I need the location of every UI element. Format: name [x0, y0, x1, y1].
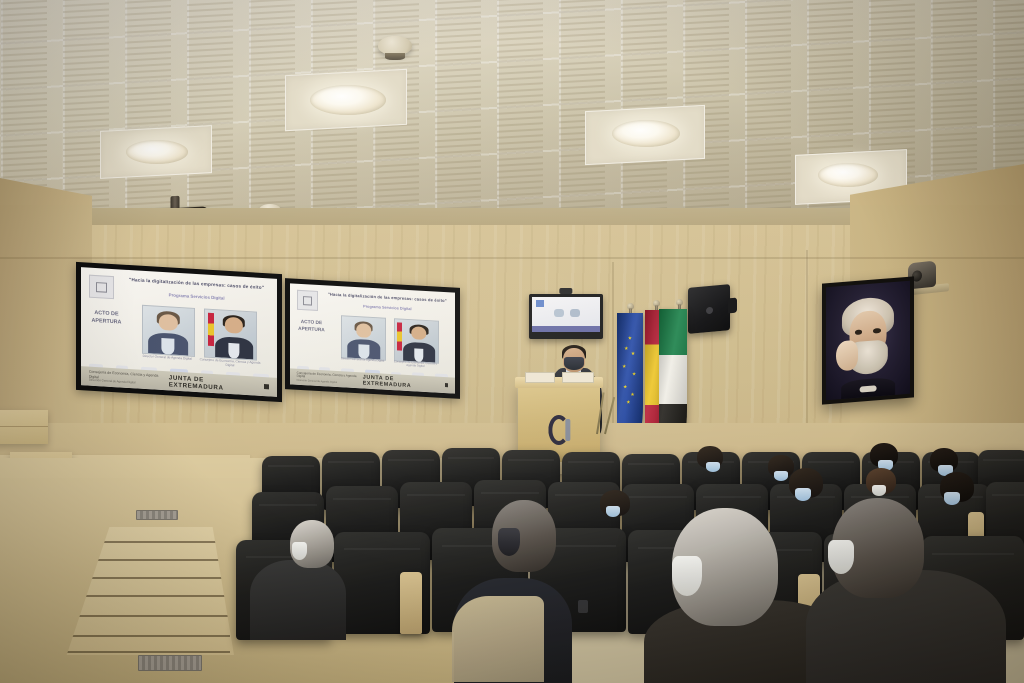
european-union-flag	[617, 313, 643, 441]
ramp-slat	[60, 615, 231, 617]
floor-air-grate	[138, 655, 202, 671]
slide-title: "Hacia la digitalización de las empresas…	[124, 277, 269, 291]
slide-headshot	[394, 318, 439, 363]
headshot-face	[159, 314, 177, 331]
attendee-face-mask	[706, 462, 720, 472]
monitor-slide-headshot	[554, 309, 564, 317]
portrait-hand	[836, 340, 858, 371]
monitor-slide-footer	[532, 326, 600, 332]
slide-footer-brand-text: JUNTA DE EXTREMADURA	[169, 374, 260, 393]
slide-footer-org: Consejería de Economía, Ciencia y Agenda…	[297, 371, 363, 386]
attendee-face-mask	[795, 488, 811, 501]
wooden-cabinet	[0, 410, 48, 444]
slide-speaker-caption: Director General de Agenda Digital	[336, 357, 389, 364]
portrait-bowtie	[860, 385, 877, 393]
attendee-face-mask	[606, 506, 620, 517]
slide-headshot	[204, 309, 257, 361]
cabinet-seam	[0, 426, 48, 427]
attendee-scarf	[452, 596, 544, 682]
recessed-downlight	[126, 140, 188, 164]
floor-air-grate	[136, 510, 178, 520]
attendee-face-mask	[774, 471, 788, 481]
auditorium-scene: "Hacia la digitalización de las empresas…	[0, 0, 1024, 683]
slide-right: "Hacia la digitalización de las empresas…	[290, 283, 455, 393]
headshot-face	[225, 317, 243, 334]
logo-bar	[565, 419, 571, 441]
slide-left: "Hacia la digitalización de las empresas…	[81, 267, 277, 397]
lectern-nameplate	[525, 372, 555, 383]
slide-logo-icon	[89, 275, 115, 300]
slide-section-label: ACTO DE APERTURA	[87, 310, 126, 327]
monitor-slide-logo-icon	[536, 300, 544, 307]
slide-speaker-caption: Consejero de Economía, Ciencia y Agenda …	[389, 360, 442, 370]
slide-subtitle: Programa Servicios Digital	[326, 303, 448, 314]
slide-headshot	[142, 305, 195, 357]
slide-title: "Hacia la digitalización de las empresas…	[326, 291, 448, 303]
projection-screen-right: "Hacia la digitalización de las empresas…	[285, 278, 460, 399]
brand-mark-icon	[445, 383, 449, 387]
slide-subtitle: Programa Servicios Digital	[124, 290, 269, 304]
headshot-shirt	[162, 338, 175, 355]
lectern-nameplate	[562, 372, 594, 383]
recessed-downlight	[818, 163, 878, 187]
monitor-bracket	[559, 288, 572, 294]
brand-mark-icon	[264, 384, 269, 389]
spain-flag-icon	[208, 313, 215, 346]
monitor-slide-headshot	[570, 309, 580, 317]
speaker-face-mask	[564, 357, 584, 370]
slide-logo-icon	[297, 290, 319, 311]
attendee-face-mask	[872, 485, 886, 496]
slide-footer-org: Consejería de Economía, Ciencia y Agenda…	[89, 370, 169, 387]
headshot-face	[356, 323, 371, 338]
attendee-shoulders	[250, 560, 346, 640]
attendee-face-mask	[944, 492, 960, 505]
flag-shading	[617, 313, 643, 441]
projection-screen-left: "Hacia la digitalización de las empresas…	[76, 262, 282, 402]
wall-speaker	[688, 284, 730, 334]
seat-number-badge	[578, 600, 588, 613]
portrait-canvas	[826, 281, 910, 401]
headshot-shirt	[228, 343, 239, 359]
slide-footer-brand: JUNTA DE EXTREMADURA	[169, 374, 269, 394]
attendee-face-mask	[828, 540, 854, 574]
wall-seam	[0, 257, 1024, 259]
monitor-screen	[532, 297, 600, 332]
smoke-detector	[378, 36, 412, 55]
slide-footer-brand-text: JUNTA DE EXTREMADURA	[363, 374, 441, 390]
slide-section-label: ACTO DE APERTURA	[295, 320, 328, 335]
speaker-bracket	[728, 297, 737, 313]
seat-armrest	[400, 572, 422, 634]
slide-headshot	[341, 316, 386, 361]
ramp-slat	[60, 635, 231, 637]
institutional-c-logo-icon	[548, 415, 569, 445]
attendee-face-mask	[292, 542, 307, 560]
headshot-face	[411, 326, 426, 341]
portrait-eye	[873, 328, 881, 333]
framed-portrait	[822, 276, 914, 404]
attendee-face-mask	[672, 556, 702, 596]
recessed-downlight	[612, 120, 680, 147]
spain-flag-icon	[397, 322, 403, 351]
confidence-monitor	[529, 294, 603, 339]
slide-footer-brand: JUNTA DE EXTREMADURA	[363, 374, 449, 391]
recessed-downlight	[310, 85, 386, 115]
ramp-slat	[60, 651, 231, 653]
